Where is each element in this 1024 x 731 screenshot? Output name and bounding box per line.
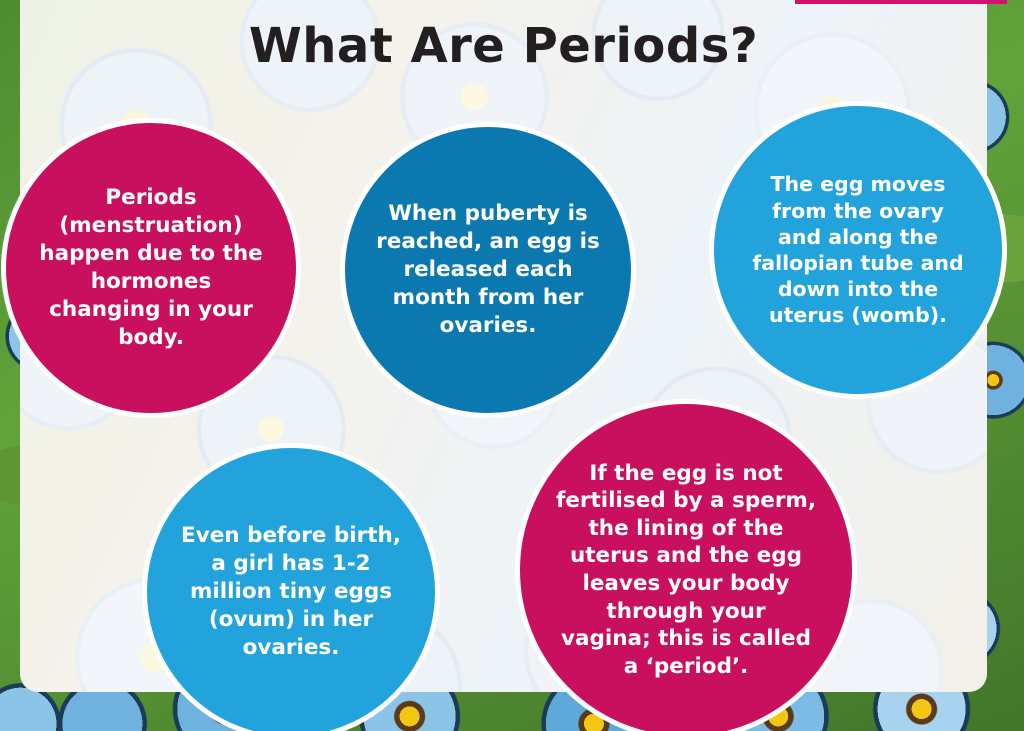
fact-bubble-eggs-before-birth[interactable]: Even before birth, a girl has 1-2 millio…	[142, 443, 440, 731]
fact-bubble-text: If the egg is not fertilised by a sperm,…	[530, 460, 842, 680]
fact-bubble-unfertilised-egg-period[interactable]: If the egg is not fertilised by a sperm,…	[515, 399, 857, 731]
fact-bubble-text: Periods (menstruation) happen due to the…	[16, 184, 286, 352]
slide-root: What Are Periods? Periods (menstruation)…	[0, 0, 1024, 731]
top-magenta-sliver	[795, 0, 1007, 4]
fact-bubble-text: Even before birth, a girl has 1-2 millio…	[157, 522, 425, 662]
fact-bubble-puberty-egg-released[interactable]: When puberty is reached, an egg is relea…	[340, 122, 636, 418]
fact-bubble-text: When puberty is reached, an egg is relea…	[355, 200, 621, 340]
page-title: What Are Periods?	[20, 18, 987, 74]
fact-bubble-periods-hormones[interactable]: Periods (menstruation) happen due to the…	[1, 118, 301, 418]
fact-bubble-egg-moves-to-uterus[interactable]: The egg moves from the ovary and along t…	[709, 101, 1007, 399]
fact-bubble-text: The egg moves from the ovary and along t…	[724, 171, 992, 328]
